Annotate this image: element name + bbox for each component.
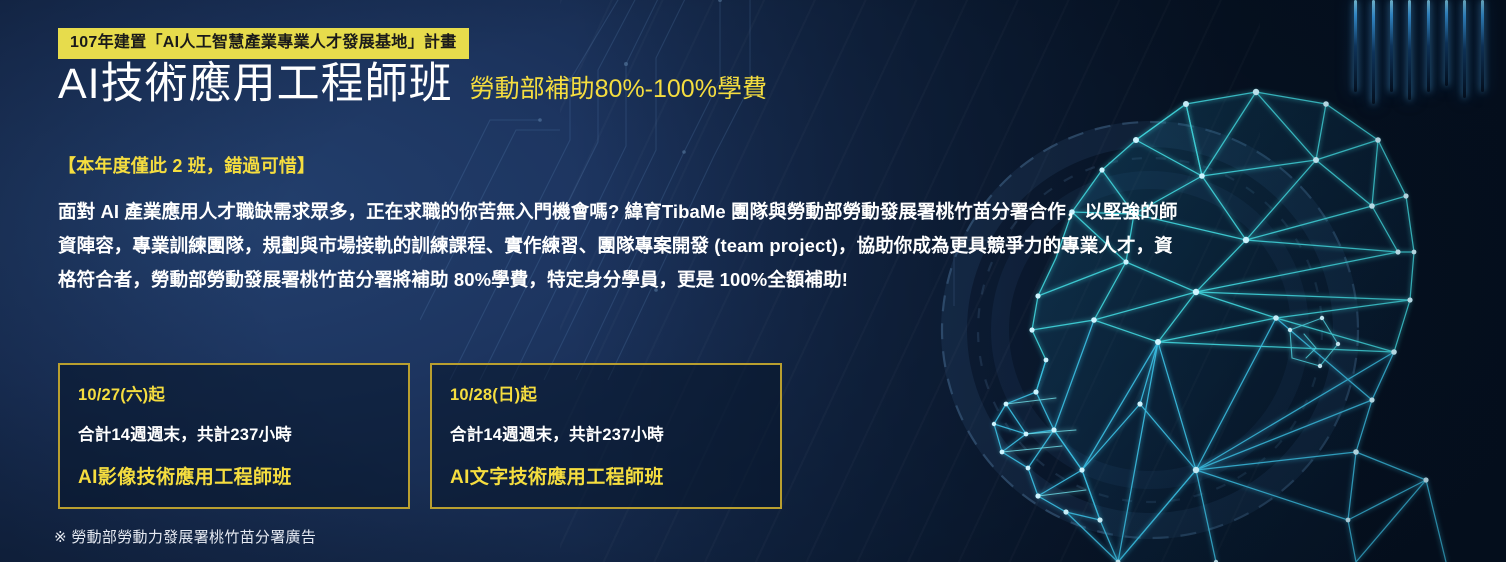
highlight-note: 【本年度僅此 2 班，錯過可惜】 xyxy=(58,152,315,178)
course-duration: 合計14週週末，共計237小時 xyxy=(78,421,390,445)
course-card[interactable]: 10/28(日)起 合計14週週末，共計237小時 AI文字技術應用工程師班 xyxy=(430,363,782,509)
course-start-date: 10/28(日)起 xyxy=(450,381,762,405)
course-name: AI影像技術應用工程師班 xyxy=(78,462,390,489)
page-title: AI技術應用工程師班 xyxy=(58,62,453,107)
program-badge: 107年建置「AI人工智慧產業專業人才發展基地」計畫 xyxy=(58,28,469,59)
subsidy-subtitle: 勞動部補助80%-100%學費 xyxy=(470,77,767,107)
advertiser-footnote: ※ 勞動部勞動力發展署桃竹苗分署廣告 xyxy=(54,526,316,547)
description-paragraph: 面對 AI 產業應用人才職缺需求眾多，正在求職的你苦無入門機會嗎? 緯育Tiba… xyxy=(58,195,1188,297)
course-duration: 合計14週週末，共計237小時 xyxy=(450,421,762,445)
title-row: AI技術應用工程師班 勞動部補助80%-100%學費 xyxy=(58,62,767,107)
course-start-date: 10/27(六)起 xyxy=(78,381,390,405)
ai-course-banner: 107年建置「AI人工智慧產業專業人才發展基地」計畫 AI技術應用工程師班 勞動… xyxy=(0,0,1506,562)
course-card[interactable]: 10/27(六)起 合計14週週末，共計237小時 AI影像技術應用工程師班 xyxy=(58,363,410,509)
banner-content: 107年建置「AI人工智慧產業專業人才發展基地」計畫 AI技術應用工程師班 勞動… xyxy=(0,0,1506,562)
course-name: AI文字技術應用工程師班 xyxy=(450,462,762,489)
course-box-list: 10/27(六)起 合計14週週末，共計237小時 AI影像技術應用工程師班 1… xyxy=(58,363,782,509)
